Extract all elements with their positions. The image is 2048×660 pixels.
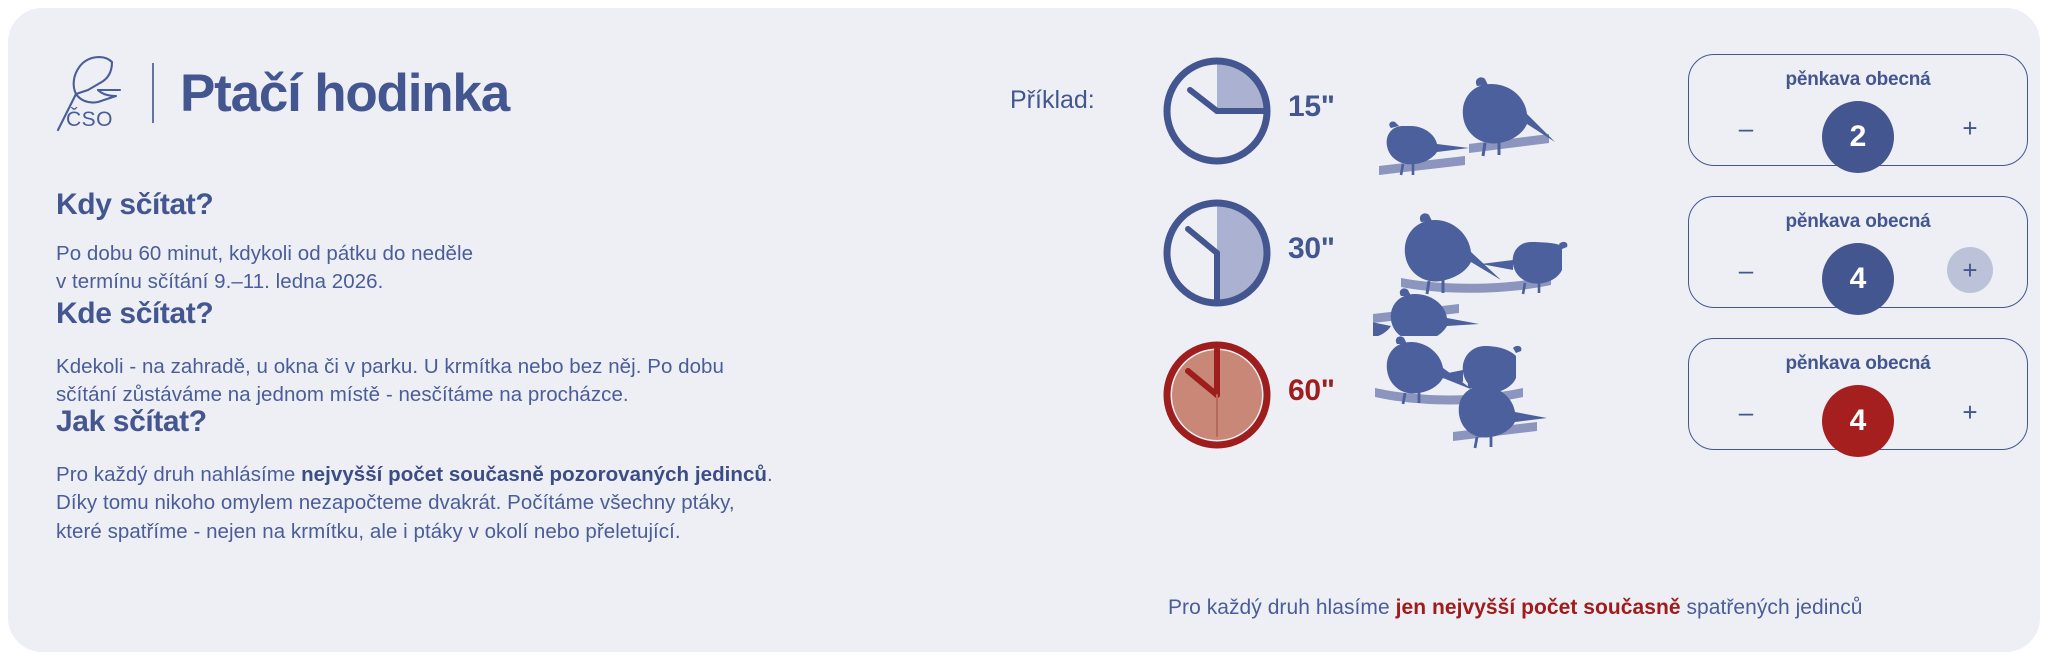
section-kdy-line1: Po dobu 60 minut, kdykoli od pátku do ne… — [56, 242, 473, 265]
increment-button-2[interactable]: + — [1947, 247, 1993, 293]
example-row-15: 15" pěnkava obecná — [1158, 44, 2028, 194]
section-kde-body: Kdekoli - na zahradě, u okna či v parku.… — [56, 353, 724, 410]
infographic-card: ČSO Ptačí hodinka Kdy sčítat? Po dobu 60… — [8, 8, 2040, 652]
species-name-3: pěnkava obecná — [1689, 353, 2027, 375]
counter-value-3: 4 — [1822, 385, 1894, 457]
section-jak-line1-pre: Pro každý druh nahlásíme — [56, 463, 301, 486]
clock-half-icon — [1158, 194, 1276, 312]
example-label: Příklad: — [1010, 86, 1095, 115]
section-jak-emphasis: nejvyšší počet současně pozorovaných jed… — [301, 463, 767, 486]
section-kdy-body: Po dobu 60 minut, kdykoli od pátku do ne… — [56, 240, 473, 297]
counter-value-2: 4 — [1822, 243, 1894, 315]
species-name-1: pěnkava obecná — [1689, 69, 2027, 91]
footnote-emphasis: jen nejvyšší počet současně — [1396, 596, 1681, 619]
section-kde-line2: sčítání zůstáváme na jednom místě - nesč… — [56, 383, 629, 406]
left-column: ČSO Ptačí hodinka Kdy sčítat? Po dobu 60… — [54, 44, 974, 634]
counter-value-1: 2 — [1822, 101, 1894, 173]
footnote-pre: Pro každý druh hlasíme — [1168, 596, 1396, 619]
decrement-button-3[interactable]: – — [1723, 389, 1769, 435]
increment-button-3[interactable]: + — [1947, 389, 1993, 435]
section-jak-line2: Díky tomu nikoho omylem nezapočteme dvak… — [56, 491, 735, 514]
example-row-60: 60" — [1158, 328, 2028, 478]
section-kdy-line2: v termínu sčítání 9.–11. ledna 2026. — [56, 270, 383, 293]
section-jak-heading: Jak sčítat? — [56, 407, 773, 437]
section-kde-heading: Kde sčítat? — [56, 299, 724, 329]
section-kde: Kde sčítat? Kdekoli - na zahradě, u okna… — [56, 299, 724, 410]
species-name-2: pěnkava obecná — [1689, 211, 2027, 233]
section-kdy-heading: Kdy sčítat? — [56, 190, 473, 220]
section-jak-line3: které spatříme - nejen na krmítku, ale i… — [56, 520, 681, 543]
brand-divider — [152, 63, 154, 123]
page-title: Ptačí hodinka — [180, 67, 509, 120]
duration-label-15: 15" — [1288, 90, 1335, 124]
duration-label-30: 30" — [1288, 232, 1335, 266]
section-kde-line1: Kdekoli - na zahradě, u okna či v parku.… — [56, 355, 724, 378]
decrement-button-1[interactable]: – — [1723, 105, 1769, 151]
org-abbr: ČSO — [66, 108, 113, 132]
decrement-button-2[interactable]: – — [1723, 247, 1769, 293]
increment-button-1[interactable]: + — [1947, 105, 1993, 151]
species-counter-card-3[interactable]: pěnkava obecná – 4 + — [1688, 338, 2028, 450]
section-jak-line1-post: . — [767, 463, 773, 486]
bird-group-2 — [1373, 44, 1658, 194]
bird-group-3 — [1373, 328, 1658, 478]
clock-full-icon — [1158, 336, 1276, 454]
duration-label-60: 60" — [1288, 374, 1335, 408]
example-row-30: 30" — [1158, 186, 2028, 336]
brand-row: ČSO Ptačí hodinka — [54, 50, 509, 136]
section-jak: Jak sčítat? Pro každý druh nahlásíme nej… — [56, 407, 773, 546]
footnote-post: spatřených jedinců — [1681, 596, 1863, 619]
clock-quarter-icon — [1158, 52, 1276, 170]
footnote: Pro každý druh hlasíme jen nejvyšší poče… — [1168, 596, 1862, 620]
section-kdy: Kdy sčítat? Po dobu 60 minut, kdykoli od… — [56, 190, 473, 297]
bird-logo-icon: ČSO — [54, 50, 132, 136]
bird-group-4 — [1373, 186, 1658, 336]
species-counter-card-1[interactable]: pěnkava obecná – 2 + — [1688, 54, 2028, 166]
species-counter-card-2[interactable]: pěnkava obecná – 4 + — [1688, 196, 2028, 308]
section-jak-body: Pro každý druh nahlásíme nejvyšší počet … — [56, 461, 773, 546]
